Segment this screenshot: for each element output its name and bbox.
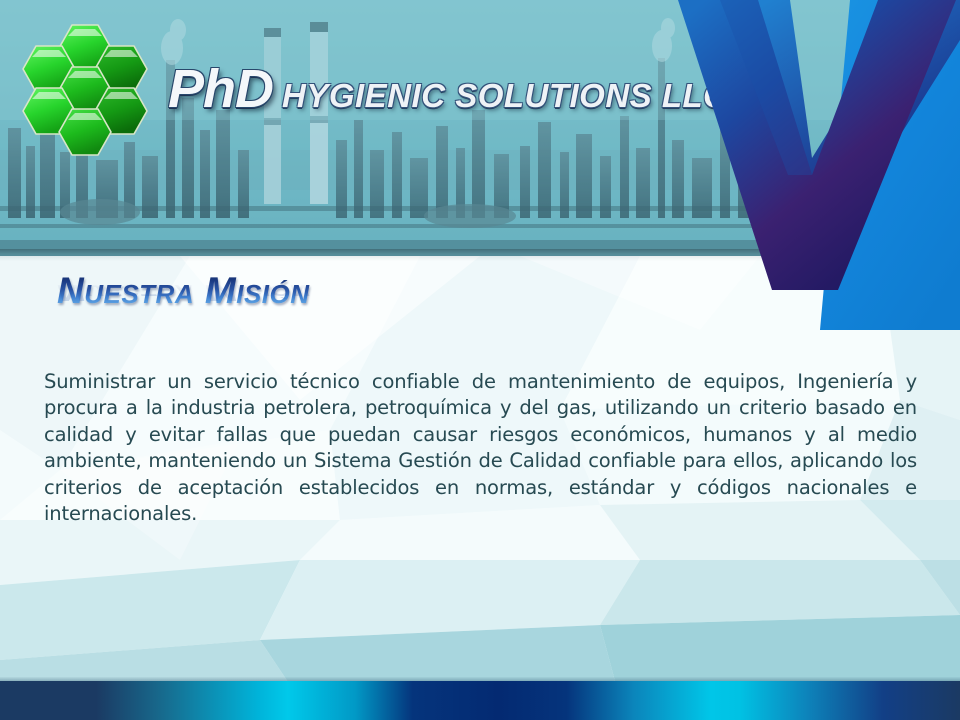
blue-v-checkmark-graphic xyxy=(660,0,960,330)
brand-primary-text: PhD xyxy=(168,59,273,119)
bottom-gradient-bar xyxy=(0,681,960,720)
section-title-block: Nuestra Misión Nuestra Misión xyxy=(57,272,310,341)
presentation-slide: PhDHYGIENIC SOLUTIONS LLC xyxy=(0,0,960,720)
green-honeycomb-hexagons-icon xyxy=(16,22,168,170)
page-title: Nuestra Misión xyxy=(57,270,310,311)
brand-wordmark: PhDHYGIENIC SOLUTIONS LLC xyxy=(168,62,728,116)
mission-paragraph: Suministrar un servicio técnico confiabl… xyxy=(44,369,917,528)
